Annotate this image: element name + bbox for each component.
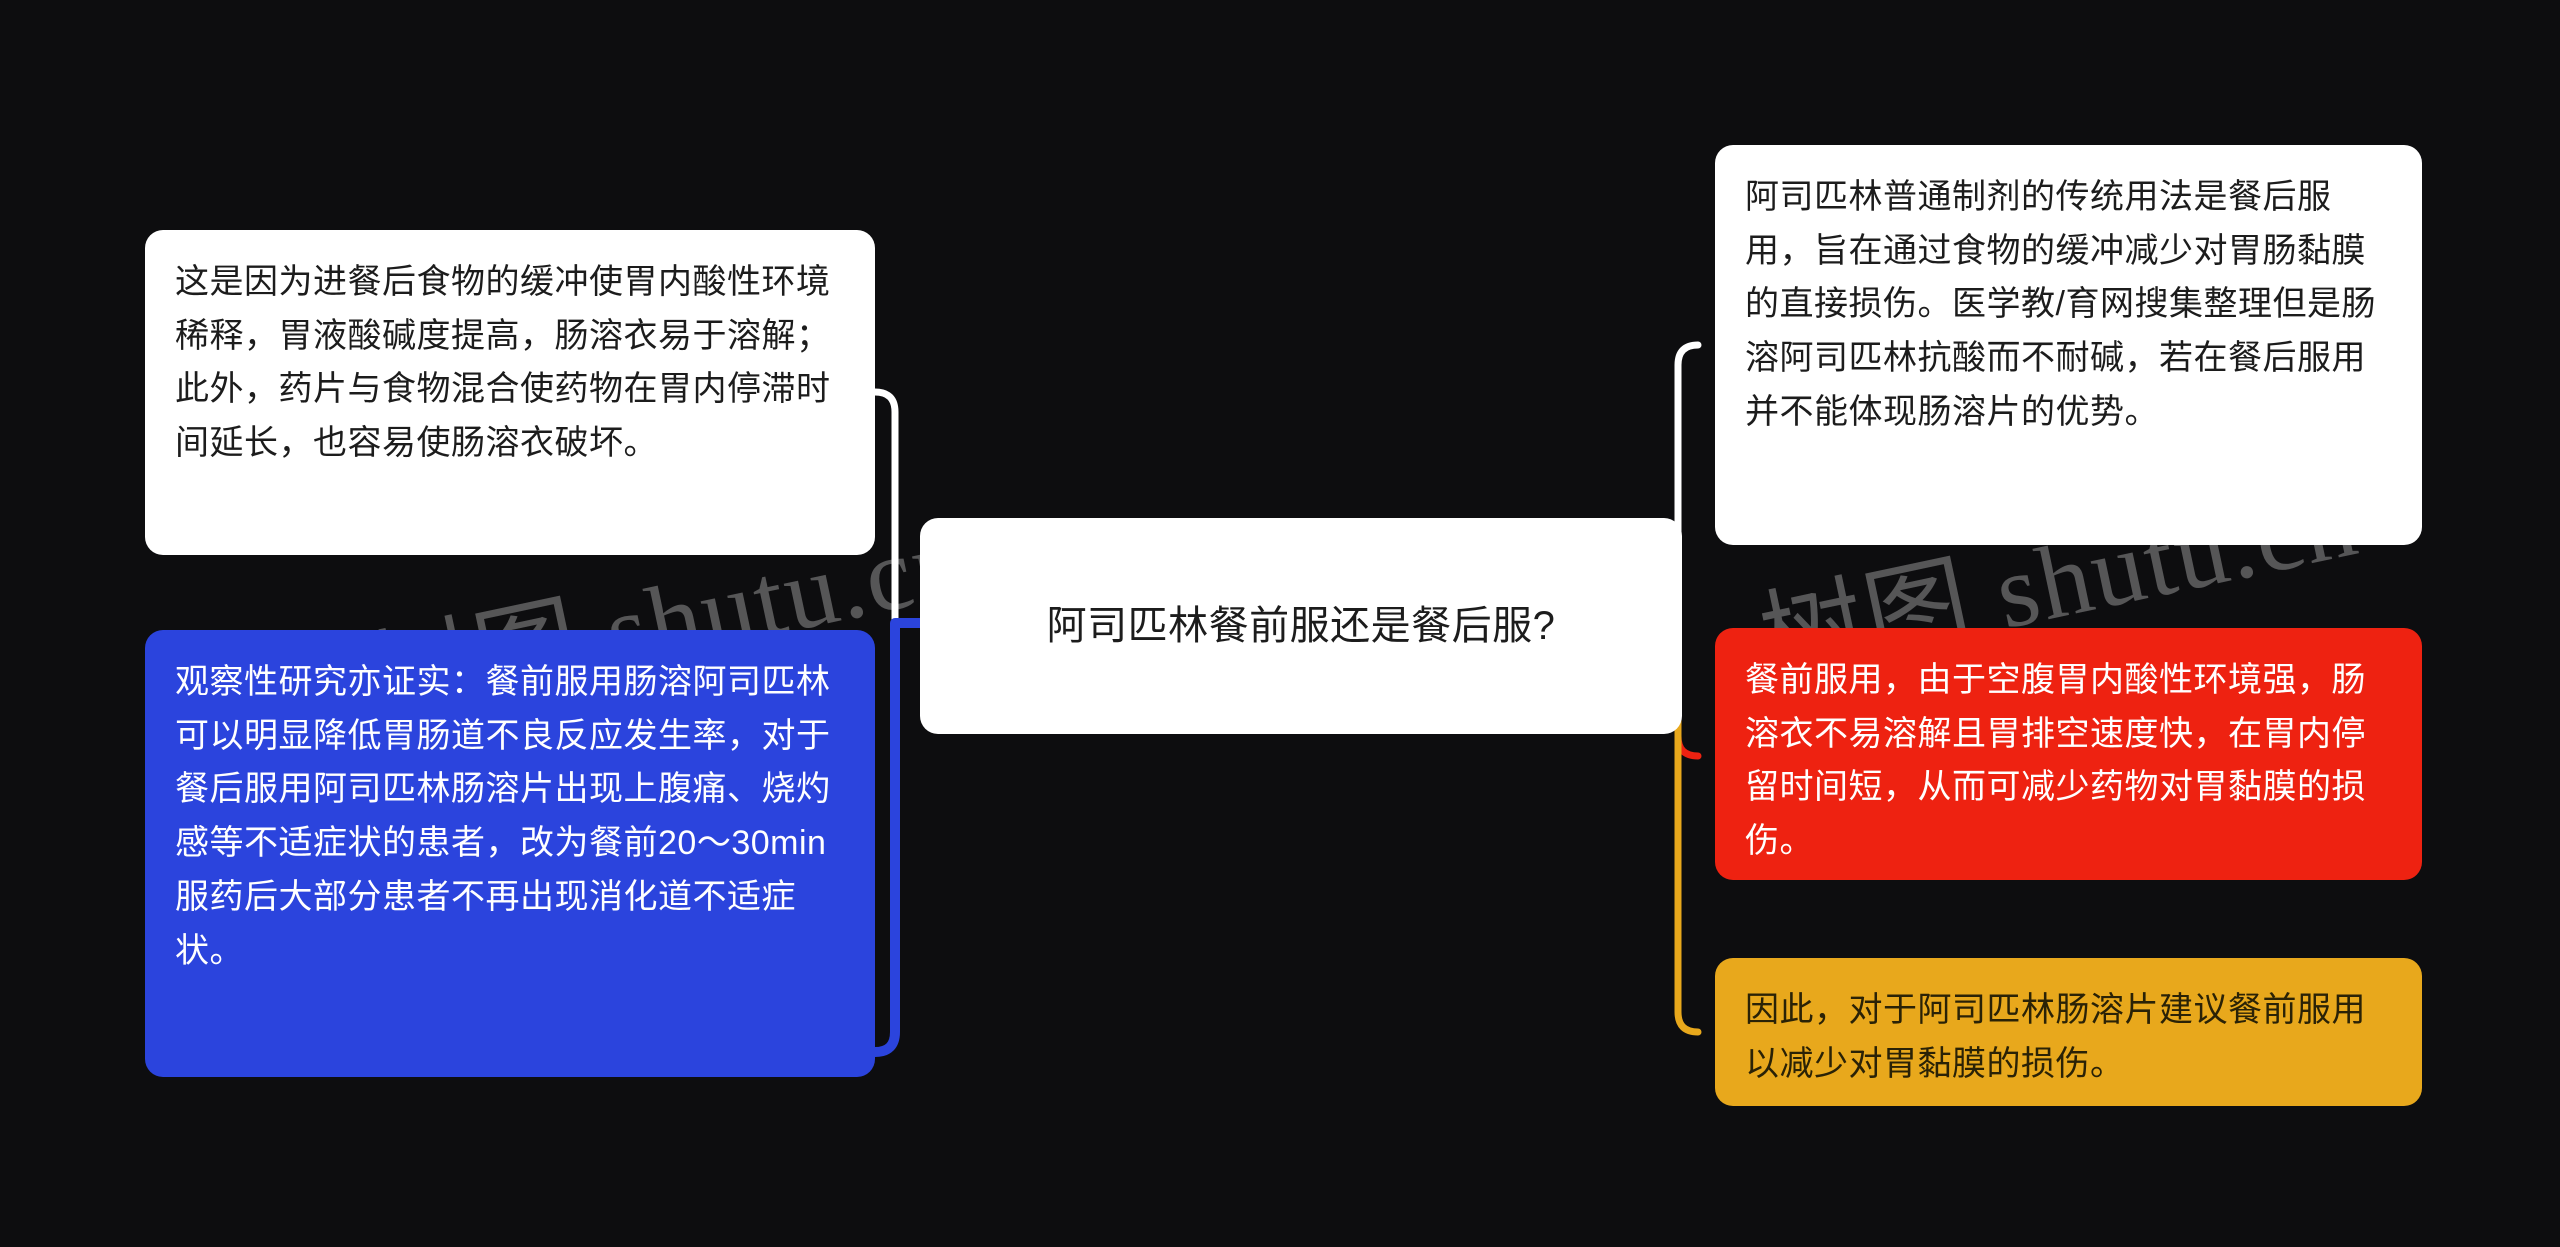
node-right-red[interactable]: 餐前服用，由于空腹胃内酸性环境强，肠溶衣不易溶解且胃排空速度快，在胃内停留时间短…: [1715, 628, 2422, 880]
node-right-white[interactable]: 阿司匹林普通制剂的传统用法是餐后服用，旨在通过食物的缓冲减少对胃肠黏膜的直接损伤…: [1715, 145, 2422, 545]
connector-left-white: [875, 392, 895, 623]
node-left-white[interactable]: 这是因为进餐后食物的缓冲使胃内酸性环境稀释，胃液酸碱度提高，肠溶衣易于溶解；此外…: [145, 230, 875, 555]
node-right-yellow[interactable]: 因此，对于阿司匹林肠溶片建议餐前服用以减少对胃黏膜的损伤。: [1715, 958, 2422, 1106]
root-node[interactable]: 阿司匹林餐前服还是餐后服?: [920, 518, 1682, 734]
node-left-blue[interactable]: 观察性研究亦证实：餐前服用肠溶阿司匹林可以明显降低胃肠道不良反应发生率，对于餐后…: [145, 630, 875, 1077]
connector-left-blue: [875, 623, 895, 1052]
root-node-label: 阿司匹林餐前服还是餐后服?: [1047, 596, 1556, 656]
mindmap-canvas: 树图 shutu.cn 树图 shutu.cn 阿司匹林餐前服还是餐后服? 这是…: [0, 0, 2560, 1247]
